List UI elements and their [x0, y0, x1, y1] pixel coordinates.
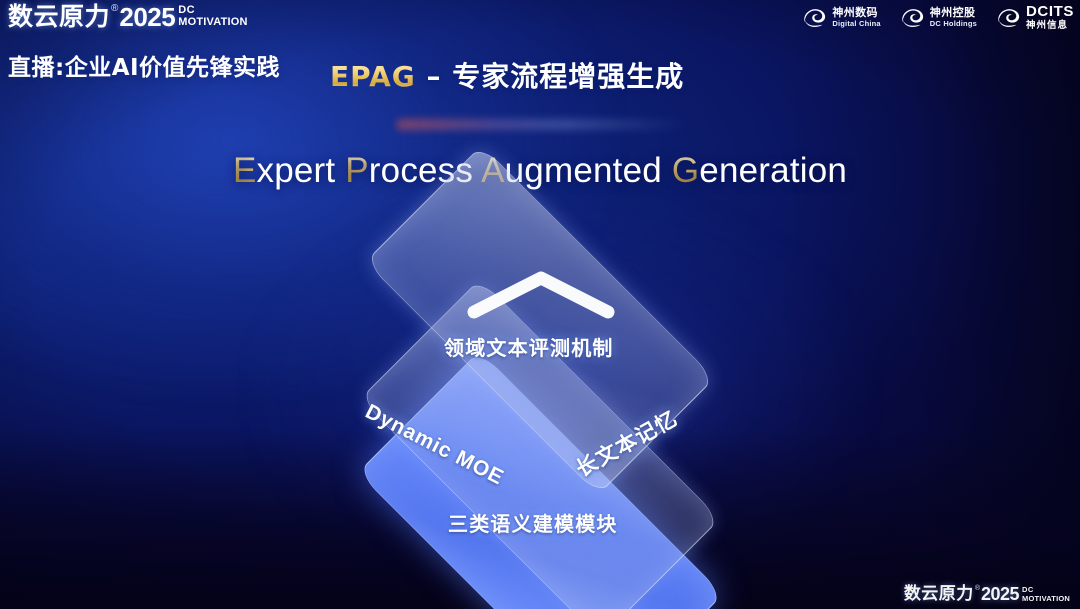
title-acronym: EPAG [330, 60, 416, 93]
swirl-icon [995, 5, 1021, 29]
brand-dc-label: DC [1022, 586, 1070, 594]
logo-dc-holdings: 神州控股 DC Holdings [899, 5, 977, 29]
brand-logo-topleft: 数云原力 ® 2025 DC MOTIVATION [8, 2, 248, 32]
logo-name-cn: 神州数码 [832, 7, 880, 18]
logo-name-en: DC Holdings [930, 20, 977, 28]
brand-registered-mark: ® [975, 584, 980, 594]
expansion-space-1 [335, 151, 345, 190]
logo-digital-china: 神州数码 Digital China [801, 5, 880, 29]
live-session-title: 直播:企业AI价值先锋实践 [8, 48, 280, 82]
logo-name-cn: 神州控股 [930, 7, 977, 18]
brand-logo-bottomright: 数云原力 ® 2025 DC MOTIVATION [904, 584, 1070, 605]
expansion-rest-expert: xpert [257, 151, 336, 190]
title-divider [396, 122, 688, 127]
brand-dc-motivation: DC MOTIVATION [1022, 586, 1070, 602]
logo-text: DCITS 神州信息 [1026, 4, 1074, 31]
diagram-layer-top[interactable] [310, 232, 770, 407]
brand-motivation-label: MOTIVATION [1022, 595, 1070, 603]
brand-dc-label: DC [178, 5, 247, 16]
logo-name-cn: 神州信息 [1026, 21, 1074, 31]
page-title: EPAG – 专家流程增强生成 [330, 55, 684, 95]
swirl-icon [899, 5, 925, 29]
title-expansion: Expert Process Augmented Generation [0, 151, 1080, 191]
expansion-initial-e: E [233, 151, 257, 190]
logo-text: 神州数码 Digital China [832, 7, 880, 28]
logo-dcits: DCITS 神州信息 [995, 4, 1074, 31]
expansion-initial-g: G [672, 151, 699, 190]
title-subtitle-cn: 专家流程增强生成 [452, 60, 684, 93]
brand-name-cn: 数云原力 [8, 2, 110, 32]
swirl-icon [801, 5, 827, 29]
title-dash: – [416, 60, 453, 93]
partner-logos: 神州数码 Digital China 神州控股 DC Holdings DCIT… [801, 4, 1074, 31]
logo-name-en: Digital China [832, 20, 880, 28]
brand-year: 2025 [981, 584, 1019, 605]
brand-motivation-label: MOTIVATION [178, 17, 247, 28]
slide-canvas: 数云原力 ® 2025 DC MOTIVATION 直播:企业AI价值先锋实践 … [0, 0, 1080, 609]
brand-dc-motivation: DC MOTIVATION [178, 5, 247, 28]
expansion-rest-generation: eneration [699, 151, 847, 190]
logo-text: 神州控股 DC Holdings [930, 7, 977, 28]
brand-year: 2025 [119, 2, 175, 32]
logo-name-en: DCITS [1026, 4, 1074, 19]
expansion-initial-p: P [345, 151, 369, 190]
expansion-space-3 [662, 151, 672, 190]
brand-name-cn: 数云原力 [904, 584, 974, 605]
expansion-rest-augmented: ugmented [505, 151, 662, 190]
brand-registered-mark: ® [111, 2, 118, 16]
